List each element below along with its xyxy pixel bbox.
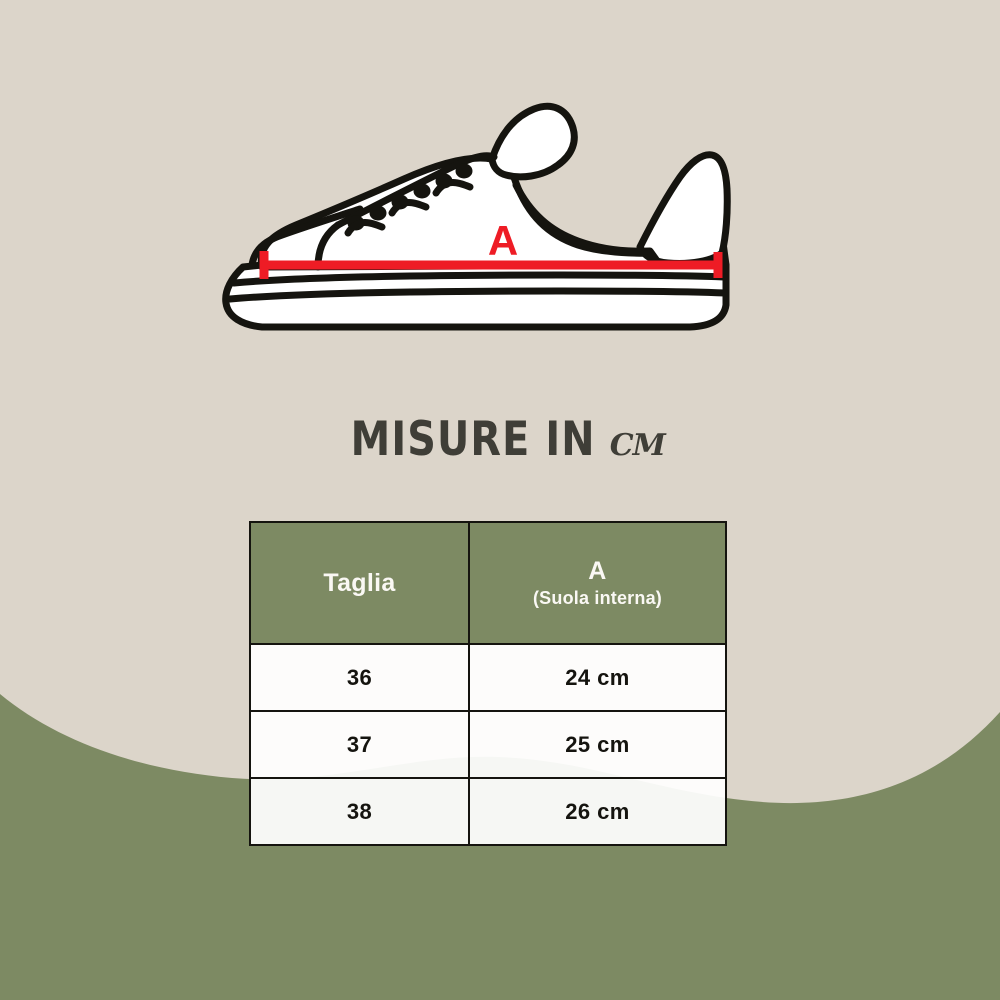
sneaker-illustration: A	[0, 95, 1000, 355]
size-chart-table: Taglia A (Suola interna) 36 24 cm	[249, 521, 727, 846]
cell-size: 38	[250, 778, 469, 845]
size-chart-table-container: Taglia A (Suola interna) 36 24 cm	[249, 521, 727, 845]
page-title: MISURE IN cm	[0, 404, 1000, 474]
measurement-label-a: A	[488, 217, 518, 264]
cell-measure: 24 cm	[469, 644, 726, 711]
shoe-tongue	[492, 106, 574, 177]
table-row: 37 25 cm	[250, 711, 726, 778]
table-row: 38 26 cm	[250, 778, 726, 845]
column-header-measure-label: A	[533, 557, 662, 586]
table-header-row: Taglia A (Suola interna)	[250, 522, 726, 644]
cell-measure: 26 cm	[469, 778, 726, 845]
shoe-line-art	[226, 106, 728, 327]
table-row: 36 24 cm	[250, 644, 726, 711]
shoe-heel-collar	[640, 155, 727, 264]
column-header-measure: A (Suola interna)	[469, 522, 726, 644]
cell-size: 37	[250, 711, 469, 778]
column-header-size-label: Taglia	[323, 569, 395, 598]
cell-measure: 25 cm	[469, 711, 726, 778]
column-header-measure-sublabel: (Suola interna)	[533, 588, 662, 609]
cell-size: 36	[250, 644, 469, 711]
page-title-main: MISURE IN	[351, 412, 596, 467]
column-header-size: Taglia	[250, 522, 469, 644]
page-title-unit: cm	[610, 416, 665, 466]
